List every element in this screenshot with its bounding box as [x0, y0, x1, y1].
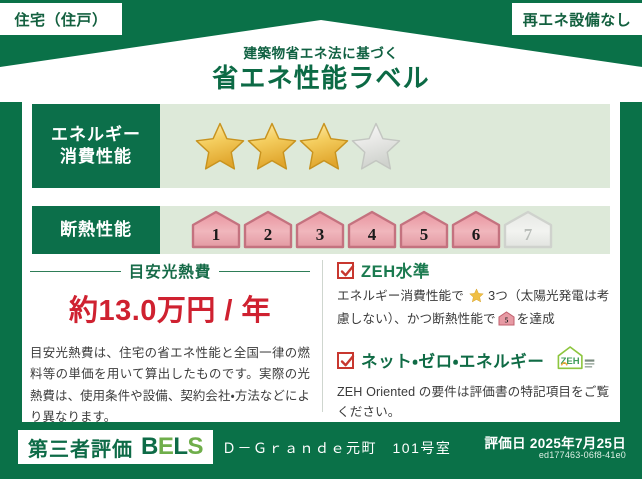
star-filled-icon — [246, 121, 298, 171]
energy-label-line2: 消費性能 — [60, 146, 132, 168]
inline-star-icon — [465, 292, 487, 306]
cost-note: 目安光熱費は、住宅の省エネ性能と全国一律の燃料等の単価を用いて算出したものです。… — [30, 343, 310, 428]
badge-renewable-equipment: 再エネ設備なし — [512, 3, 642, 35]
insulation-level-empty: 7 — [502, 210, 554, 250]
bels-letter-s: S — [188, 433, 204, 460]
energy-label-line1: エネルギー — [51, 124, 141, 146]
third-party-label: 第三者評価 — [28, 433, 133, 462]
insulation-performance-label: 断熱性能 — [32, 206, 160, 254]
zeh-standard-title: ZEH水準 — [361, 258, 430, 282]
footer: 第三者評価 BELS Ｄ－Ｇｒａｎｄｅ元町 101号室 評価日 2025年7月2… — [0, 424, 642, 479]
energy-performance-row: エネルギー 消費性能 — [32, 104, 610, 188]
bels-letter-b: B — [141, 433, 158, 460]
zeh-desc-part1: エネルギー消費性能で — [337, 289, 464, 303]
evaluation-id: ed177463-06f8-41e0 — [539, 450, 626, 460]
insulation-level-scale: 1234567 — [190, 210, 554, 250]
inline-insulation-badge: 5 — [498, 311, 515, 332]
energy-performance-label: エネルギー 消費性能 — [32, 104, 160, 188]
inline-badge-number: 5 — [504, 316, 508, 325]
badge-renewable-equipment-label: 再エネ設備なし — [523, 9, 632, 30]
cost-rule-left — [30, 271, 121, 272]
insulation-level-filled: 2 — [242, 210, 294, 250]
insulation-level-number: 4 — [346, 225, 398, 245]
evaluation-date: 評価日 2025年7月25日 — [484, 432, 626, 452]
insulation-level-filled: 5 — [398, 210, 450, 250]
badge-building-type-label: 住宅（住戸） — [14, 9, 107, 30]
building-name: Ｄ－Ｇｒａｎｄｅ元町 101号室 — [222, 438, 451, 458]
bels-letter-l: L — [173, 433, 187, 460]
star-empty-icon — [350, 121, 402, 171]
checkbox-checked-icon-2 — [337, 352, 354, 369]
insulation-level-filled: 6 — [450, 210, 502, 250]
net-zero-heading: ネット・ゼロ・エネルギー ZEH — [337, 343, 612, 378]
insulation-level-filled: 4 — [346, 210, 398, 250]
energy-label-root: 住宅（住戸） 再エネ設備なし 建築物省エネ法に基づく 省エネ性能ラベル エネルギ… — [0, 0, 642, 479]
star-filled-icon — [298, 121, 350, 171]
badge-building-type: 住宅（住戸） — [0, 3, 122, 35]
insulation-label-text: 断熱性能 — [60, 219, 132, 241]
bels-plate: 第三者評価 BELS — [18, 430, 213, 464]
insulation-level-filled: 3 — [294, 210, 346, 250]
star-rating — [194, 121, 402, 171]
energy-performance-value — [160, 104, 610, 188]
header-title: 省エネ性能ラベル — [0, 58, 642, 95]
cost-rule-right — [219, 271, 310, 272]
zeh-column: ZEH水準 エネルギー消費性能で 3つ（太陽光発電は考慮しない）、かつ断熱性能で… — [323, 258, 612, 418]
zeh-standard-heading: ZEH水準 — [337, 258, 612, 282]
insulation-performance-row: 断熱性能 1234567 — [32, 206, 610, 254]
cost-value: 約13.0万円 / 年 — [30, 287, 310, 329]
checkbox-checked-icon — [337, 262, 354, 279]
lower-content: 目安光熱費 約13.0万円 / 年 目安光熱費は、住宅の省エネ性能と全国一律の燃… — [30, 258, 612, 418]
svg-text:ZEH: ZEH — [561, 356, 580, 367]
cost-heading: 目安光熱費 — [30, 260, 310, 282]
cost-column: 目安光熱費 約13.0万円 / 年 目安光熱費は、住宅の省エネ性能と全国一律の燃… — [30, 258, 322, 418]
net-zero-block: ネット・ゼロ・エネルギー ZEH ZEH Oriented の要件は評価書の特記… — [337, 343, 612, 423]
insulation-performance-value: 1234567 — [160, 206, 610, 254]
insulation-level-number: 7 — [502, 225, 554, 245]
zeh-logo-icon: ZEH — [554, 343, 598, 378]
insulation-level-number: 1 — [190, 225, 242, 245]
zeh-standard-block: ZEH水準 エネルギー消費性能で 3つ（太陽光発電は考慮しない）、かつ断熱性能で… — [337, 258, 612, 333]
bels-letter-e: E — [158, 433, 174, 460]
cost-heading-label: 目安光熱費 — [129, 260, 212, 282]
star-filled-icon — [194, 121, 246, 171]
net-zero-title: ネット・ゼロ・エネルギー — [361, 348, 544, 372]
bels-logo: BELS — [141, 433, 203, 461]
zeh-standard-description: エネルギー消費性能で 3つ（太陽光発電は考慮しない）、かつ断熱性能で 5 を達成 — [337, 286, 612, 333]
insulation-level-number: 2 — [242, 225, 294, 245]
insulation-level-filled: 1 — [190, 210, 242, 250]
zeh-desc-part2: を達成 — [517, 312, 555, 326]
insulation-level-number: 6 — [450, 225, 502, 245]
net-zero-description: ZEH Oriented の要件は評価書の特記項目をご覧ください。 — [337, 382, 612, 423]
insulation-level-number: 3 — [294, 225, 346, 245]
insulation-level-number: 5 — [398, 225, 450, 245]
